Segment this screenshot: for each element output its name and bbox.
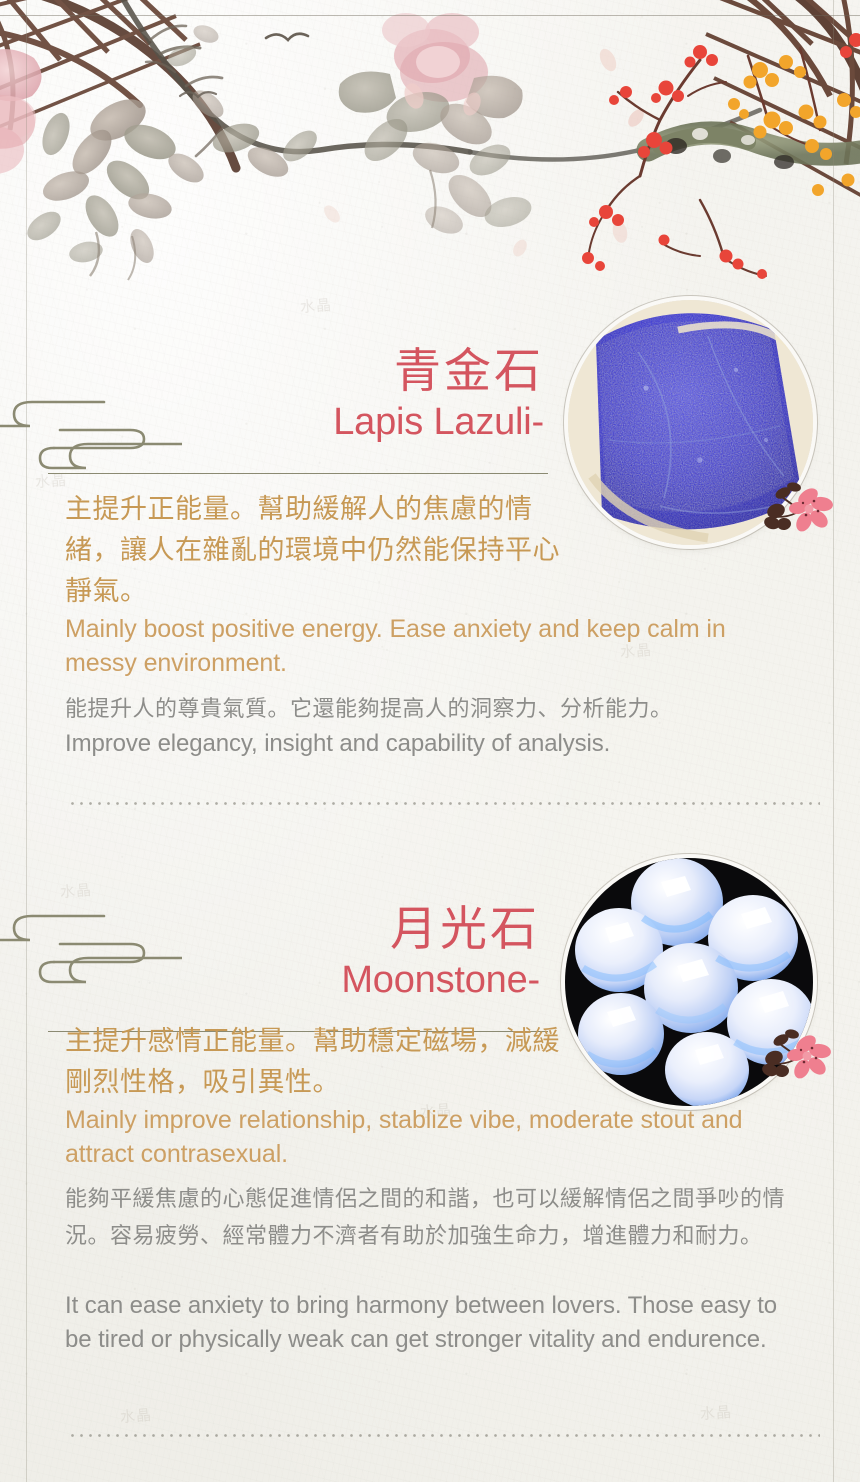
blossom-cluster-left — [0, 49, 42, 174]
feature-text-en: Mainly boost positive energy. Ease anxie… — [65, 612, 765, 680]
frame-rule-right — [833, 0, 834, 1482]
detail-text-cn: 能提升人的尊貴氣質。它還能夠提高人的洞察力、分析能力。 — [65, 690, 805, 727]
stone-name-en: Lapis Lazuli- — [333, 400, 544, 444]
dotted-divider — [68, 1434, 820, 1437]
stone-name-cn: 月光石 — [341, 902, 540, 958]
lapis-lazuli-image — [568, 300, 813, 545]
watermark: 水晶 — [59, 879, 92, 902]
leaf-cluster-center — [165, 22, 323, 183]
lattice-window-left — [0, 0, 236, 168]
title-underline — [48, 473, 548, 474]
detail-text-cn: 能夠平緩焦慮的心態促進情侶之間的和諧，也可以緩解情侶之間爭吵的情況。容易疲勞、經… — [65, 1180, 810, 1254]
dotted-divider — [68, 802, 820, 805]
moonstone-photo — [565, 858, 813, 1106]
feature-text-cn: 主提升正能量。幫助緩解人的焦慮的情緒，讓人在雜亂的環境中仍然能保持平心靜氣。 — [65, 489, 565, 612]
stone-name-en: Moonstone- — [341, 958, 540, 1002]
moonstone-image — [565, 858, 813, 1106]
plum-branch-main — [118, 0, 760, 160]
falling-petals — [321, 46, 647, 259]
plum-trunk-right — [648, 128, 860, 169]
lapis-title-block: 青金石 Lapis Lazuli- — [333, 344, 544, 444]
ruyi-cloud-scroll — [0, 392, 182, 492]
lapis-lazuli-photo — [568, 300, 813, 545]
stone-name-cn: 青金石 — [333, 344, 544, 400]
watermark: 水晶 — [119, 1404, 152, 1427]
frame-rule-top — [0, 15, 860, 16]
orange-plum-blossoms — [728, 55, 860, 196]
watermark: 水晶 — [699, 1401, 732, 1424]
watermark: 水晶 — [299, 294, 332, 317]
detail-text-en: It can ease anxiety to bring harmony bet… — [65, 1289, 785, 1357]
flying-bird-icon — [180, 34, 308, 97]
lattice-window-right — [700, 0, 860, 206]
leaf-cluster-left — [22, 91, 209, 280]
frame-rule-left — [26, 0, 27, 1482]
moonstone-title-block: 月光石 Moonstone- — [341, 902, 540, 1002]
ruyi-cloud-scroll — [0, 906, 182, 1006]
magnolia-blossom-center — [339, 13, 535, 239]
detail-text-en: Improve elegancy, insight and capability… — [65, 727, 805, 761]
chinese-ink-painting-banner — [0, 0, 860, 292]
feature-text-cn: 主提升感情正能量。幫助穩定磁場，減緩剛烈性格，吸引異性。 — [65, 1021, 565, 1103]
poster-page: 水晶 水晶 水晶 水晶 水晶 水晶 水晶 — [0, 0, 860, 1482]
feature-text-en: Mainly improve relationship, stablize vi… — [65, 1103, 775, 1171]
plum-twigs-right — [588, 48, 820, 276]
red-plum-blossoms — [582, 33, 860, 279]
